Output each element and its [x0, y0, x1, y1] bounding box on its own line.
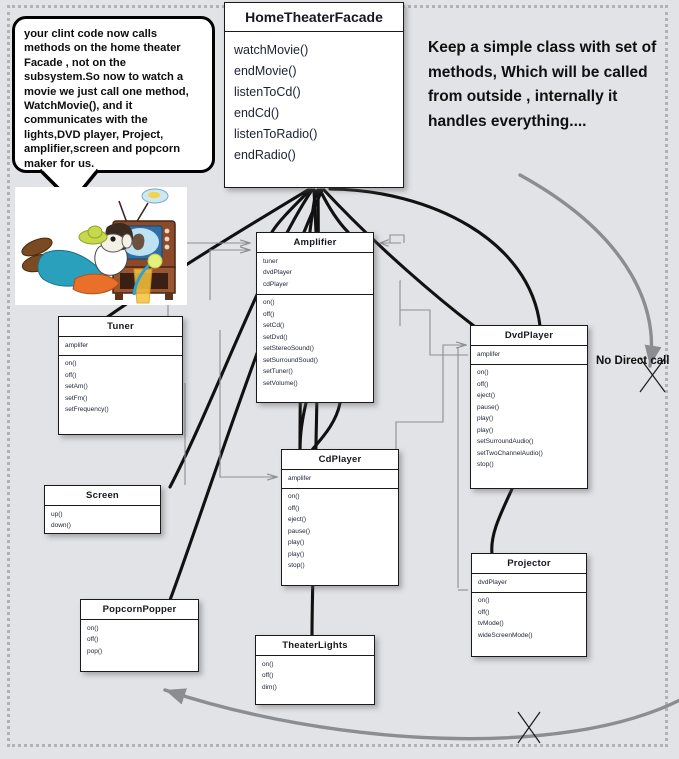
class-title-theater-lights: TheaterLights: [256, 636, 374, 656]
operation-item: stop(): [471, 460, 587, 472]
class-box-projector[interactable]: Projector dvdPlayer on() off() tvMode() …: [471, 553, 587, 657]
goofy-watching-tv-graphic: [15, 187, 187, 305]
operation-item: tvMode(): [472, 619, 586, 631]
class-box-popcorn-popper[interactable]: PopcornPopper on() off() pop(): [80, 599, 199, 672]
class-operations-dvd-player: on() off() eject() pause() play() play()…: [471, 365, 587, 476]
operation-item: listenToRadio(): [225, 123, 403, 144]
operation-item: setFm(): [59, 393, 182, 405]
operation-item: setTwoChannelAudio(): [471, 448, 587, 460]
operation-item: off(): [257, 309, 373, 321]
class-operations-screen: up() down(): [45, 506, 160, 536]
operation-item: endMovie(): [225, 60, 403, 81]
operation-item: on(): [472, 596, 586, 608]
operation-item: setSurroundSoud(): [257, 355, 373, 367]
edge-cdplayer-dvdplayer: [396, 345, 466, 468]
class-attributes-dvd-player: amplifer: [471, 346, 587, 365]
operation-item: off(): [81, 635, 198, 647]
operation-item: off(): [59, 370, 182, 382]
operation-item: on(): [257, 298, 373, 310]
speech-bubble: your clint code now calls methods on the…: [12, 16, 215, 173]
class-title-projector: Projector: [472, 554, 586, 574]
operation-item: listenToCd(): [225, 81, 403, 102]
attribute-item: tuner: [257, 256, 373, 268]
operation-item: play(): [471, 425, 587, 437]
operation-item: on(): [256, 659, 374, 671]
operation-item: setStereoSound(): [257, 344, 373, 356]
attribute-item: dvdPlayer: [472, 577, 586, 589]
class-attributes-tuner: amplifer: [59, 337, 182, 356]
attribute-item: amplifer: [282, 473, 398, 485]
operation-item: wideScreenMode(): [472, 630, 586, 642]
operation-item: setSurroundAudio(): [471, 437, 587, 449]
operation-item: on(): [59, 359, 182, 371]
class-attributes-amplifier: tuner dvdPlayer cdPlayer: [257, 253, 373, 295]
class-title-popcorn-popper: PopcornPopper: [81, 600, 198, 620]
operation-item: endCd(): [225, 102, 403, 123]
cartoon-illustration: [15, 187, 187, 305]
operation-item: off(): [282, 503, 398, 515]
operation-item: pause(): [282, 526, 398, 538]
operation-item: dim(): [256, 682, 374, 694]
class-attributes-projector: dvdPlayer: [472, 574, 586, 593]
slide-canvas: your clint code now calls methods on the…: [0, 0, 679, 759]
class-operations-theater-lights: on() off() dim(): [256, 656, 374, 698]
operation-item: play(): [282, 538, 398, 550]
class-operations-amplifier: on() off() setCd() setDvd() setStereoSou…: [257, 295, 373, 394]
class-title-screen: Screen: [45, 486, 160, 506]
snack-bowl-icon: [142, 189, 168, 203]
class-box-tuner[interactable]: Tuner amplifer on() off() setAm() setFm(…: [58, 316, 183, 435]
operation-item: setCd(): [257, 321, 373, 333]
operation-item: play(): [282, 549, 398, 561]
operation-item: off(): [256, 671, 374, 683]
operation-item: setDvd(): [257, 332, 373, 344]
class-operations-home-theater-facade: watchMovie() endMovie() listenToCd() end…: [225, 32, 403, 171]
class-title-dvd-player: DvdPlayer: [471, 326, 587, 346]
operation-item: on(): [81, 623, 198, 635]
speech-bubble-text: your clint code now calls methods on the…: [24, 27, 204, 171]
operation-item: up(): [45, 509, 160, 521]
attribute-item: dvdPlayer: [257, 268, 373, 280]
operation-item: eject(): [282, 515, 398, 527]
attribute-item: amplifer: [471, 349, 587, 361]
operation-item: eject(): [471, 391, 587, 403]
operation-item: pause(): [471, 402, 587, 414]
operation-item: stop(): [282, 561, 398, 573]
class-operations-popcorn-popper: on() off() pop(): [81, 620, 198, 662]
class-title-home-theater-facade: HomeTheaterFacade: [225, 3, 403, 32]
edge-assoc-amplifier-2: [210, 250, 250, 300]
class-box-screen[interactable]: Screen up() down(): [44, 485, 161, 534]
class-box-home-theater-facade[interactable]: HomeTheaterFacade watchMovie() endMovie(…: [224, 2, 404, 188]
arrow-no-direct-call-bottom: [165, 690, 679, 739]
operation-item: play(): [471, 414, 587, 426]
edge-dvd-projector: [492, 489, 512, 554]
operation-item: setFrequency(): [59, 405, 182, 417]
operation-item: down(): [45, 521, 160, 533]
class-operations-cd-player: on() off() eject() pause() play() play()…: [282, 489, 398, 577]
operation-item: watchMovie(): [225, 39, 403, 60]
class-title-cd-player: CdPlayer: [282, 450, 398, 470]
class-title-tuner: Tuner: [59, 317, 182, 337]
operation-item: endRadio(): [225, 144, 403, 165]
class-title-amplifier: Amplifier: [257, 233, 373, 253]
label-no-direct-call: No Direct call: [596, 355, 670, 367]
attribute-item: cdPlayer: [257, 279, 373, 291]
operation-item: setAm(): [59, 382, 182, 394]
operation-item: on(): [471, 368, 587, 380]
class-box-amplifier[interactable]: Amplifier tuner dvdPlayer cdPlayer on() …: [256, 232, 374, 403]
operation-item: off(): [472, 607, 586, 619]
operation-item: pop(): [81, 646, 198, 658]
operation-item: on(): [282, 492, 398, 504]
class-operations-tuner: on() off() setAm() setFm() setFrequency(…: [59, 356, 182, 421]
operation-item: setTuner(): [257, 367, 373, 379]
note-keep-simple-class: Keep a simple class with set of methods,…: [428, 36, 660, 134]
edge-assoc-upper-right: [400, 281, 401, 326]
class-box-dvd-player[interactable]: DvdPlayer amplifer on() off() eject() pa…: [470, 325, 588, 489]
class-box-theater-lights[interactable]: TheaterLights on() off() dim(): [255, 635, 375, 705]
class-attributes-cd-player: amplifer: [282, 470, 398, 489]
class-box-cd-player[interactable]: CdPlayer amplifer on() off() eject() pau…: [281, 449, 399, 586]
class-operations-projector: on() off() tvMode() wideScreenMode(): [472, 593, 586, 646]
attribute-item: amplifer: [59, 340, 182, 352]
operation-item: setVolume(): [257, 378, 373, 390]
operation-item: off(): [471, 379, 587, 391]
edge-assoc-amp-top-right: [390, 235, 404, 243]
